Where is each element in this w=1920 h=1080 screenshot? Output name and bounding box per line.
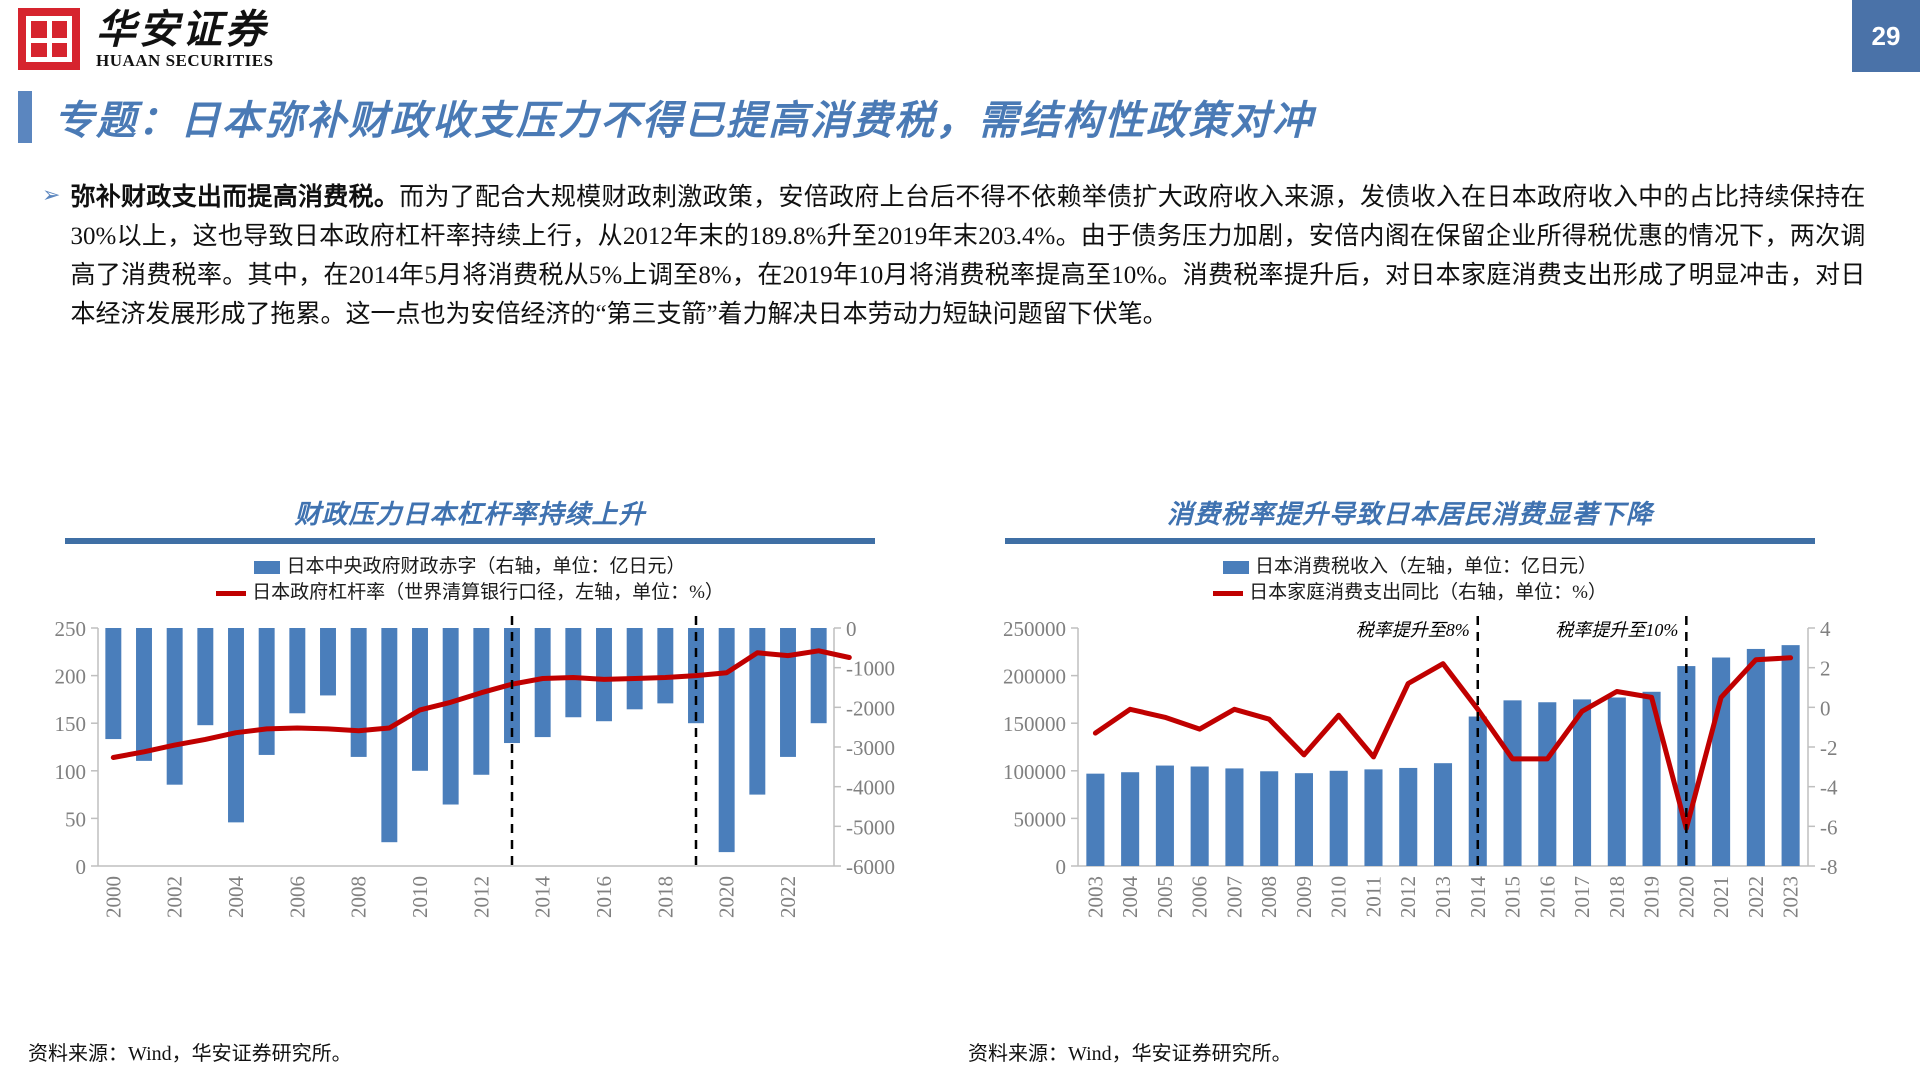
svg-text:2018: 2018: [653, 876, 677, 918]
svg-text:50000: 50000: [1014, 807, 1067, 831]
svg-text:2017: 2017: [1570, 876, 1594, 918]
svg-text:2010: 2010: [408, 876, 432, 918]
svg-text:2000: 2000: [101, 876, 125, 918]
brand-name-en: HUAAN SECURITIES: [96, 52, 274, 69]
svg-text:100000: 100000: [1003, 760, 1066, 784]
body-paragraph: 弥补财政支出而提高消费税。而为了配合大规模财政刺激政策，安倍政府上台后不得不依赖…: [70, 178, 1865, 334]
legend-item-line: 日本政府杠杆率（世界清算银行口径，左轴，单位：%）: [20, 580, 920, 606]
svg-text:2016: 2016: [1535, 876, 1559, 918]
source-note-right: 资料来源：Wind，华安证券研究所。: [968, 1037, 1292, 1066]
svg-text:2014: 2014: [531, 876, 555, 919]
svg-text:2008: 2008: [1257, 876, 1281, 918]
svg-text:250: 250: [55, 617, 87, 641]
svg-text:200: 200: [55, 665, 87, 689]
svg-text:2016: 2016: [592, 876, 616, 918]
svg-text:2022: 2022: [776, 876, 800, 918]
svg-text:2010: 2010: [1327, 876, 1351, 918]
svg-text:2003: 2003: [1083, 876, 1107, 918]
legend-line-swatch-icon: [216, 591, 246, 596]
legend-bar-label: 日本中央政府财政赤字（右轴，单位：亿日元）: [286, 554, 685, 580]
svg-text:200000: 200000: [1003, 665, 1066, 689]
chart-right-plot: 050000100000150000200000250000-8-6-4-202…: [960, 614, 1860, 944]
chart-right-title: 消费税率提升导致日本居民消费显著下降: [960, 500, 1860, 534]
brand-logo: 华安证券 HUAAN SECURITIES: [18, 8, 274, 70]
legend-line-label: 日本家庭消费支出同比（右轴，单位：%）: [1249, 580, 1607, 606]
legend-item-bar: 日本消费税收入（左轴，单位：亿日元）: [960, 554, 1860, 580]
svg-text:2008: 2008: [347, 876, 371, 918]
legend-bar-swatch-icon: [1223, 561, 1249, 574]
source-note-left: 资料来源：Wind，华安证券研究所。: [28, 1037, 352, 1066]
svg-text:-6000: -6000: [846, 855, 895, 879]
legend-bar-label: 日本消费税收入（左轴，单位：亿日元）: [1255, 554, 1597, 580]
svg-text:2020: 2020: [715, 876, 739, 918]
huaan-logo-icon: [18, 8, 80, 70]
brand-name-cn: 华安证券: [96, 10, 274, 50]
chart-panel-left: 财政压力日本杠杆率持续上升 日本中央政府财政赤字（右轴，单位：亿日元） 日本政府…: [20, 500, 920, 1030]
svg-text:-5000: -5000: [846, 815, 895, 839]
svg-text:2011: 2011: [1362, 876, 1386, 917]
svg-text:税率提升至10%: 税率提升至10%: [1555, 620, 1678, 640]
svg-text:2019: 2019: [1640, 876, 1664, 918]
svg-text:0: 0: [846, 617, 857, 641]
chart-left-rule: [65, 538, 875, 544]
svg-text:100: 100: [55, 760, 87, 784]
chart-left-plot: 0501001502002500-1000-2000-3000-4000-500…: [20, 614, 920, 944]
svg-text:-8: -8: [1820, 855, 1838, 879]
svg-text:2013: 2013: [1431, 876, 1455, 918]
svg-text:0: 0: [76, 855, 87, 879]
svg-text:2006: 2006: [285, 876, 309, 918]
svg-text:-6: -6: [1820, 815, 1838, 839]
chart-right-rule: [1005, 538, 1815, 544]
svg-text:2009: 2009: [1292, 876, 1316, 918]
legend-line-swatch-icon: [1213, 591, 1243, 596]
svg-text:2002: 2002: [163, 876, 187, 918]
chart-panel-right: 消费税率提升导致日本居民消费显著下降 日本消费税收入（左轴，单位：亿日元） 日本…: [960, 500, 1860, 1030]
chart-right-svg: 050000100000150000200000250000-8-6-4-202…: [960, 614, 1860, 944]
legend-item-bar: 日本中央政府财政赤字（右轴，单位：亿日元）: [20, 554, 920, 580]
legend-item-line: 日本家庭消费支出同比（右轴，单位：%）: [960, 580, 1860, 606]
svg-text:税率提升至8%: 税率提升至8%: [1356, 620, 1470, 640]
title-accent-bar: [18, 91, 32, 143]
svg-text:-2000: -2000: [846, 696, 895, 720]
svg-text:-3000: -3000: [846, 736, 895, 760]
svg-text:2015: 2015: [1501, 876, 1525, 918]
svg-text:2018: 2018: [1605, 876, 1629, 918]
chart-left-legend: 日本中央政府财政赤字（右轴，单位：亿日元） 日本政府杠杆率（世界清算银行口径，左…: [20, 554, 920, 606]
svg-text:2021: 2021: [1709, 876, 1733, 918]
svg-text:2014: 2014: [1466, 876, 1490, 919]
svg-text:2004: 2004: [224, 876, 248, 919]
legend-bar-swatch-icon: [254, 561, 280, 574]
chart-left-svg: 0501001502002500-1000-2000-3000-4000-500…: [20, 614, 920, 944]
svg-text:250000: 250000: [1003, 617, 1066, 641]
svg-text:-4: -4: [1820, 776, 1838, 800]
body-paragraph-block: ➢ 弥补财政支出而提高消费税。而为了配合大规模财政刺激政策，安倍政府上台后不得不…: [42, 178, 1882, 334]
chart-left-title: 财政压力日本杠杆率持续上升: [20, 500, 920, 534]
svg-text:-2: -2: [1820, 736, 1838, 760]
page-title: 专题：日本弥补财政收支压力不得已提高消费税，需结构性政策对冲: [54, 88, 1314, 146]
svg-text:150: 150: [55, 712, 87, 736]
page-number-badge: 29: [1852, 0, 1920, 72]
svg-text:2007: 2007: [1222, 876, 1246, 918]
svg-text:2012: 2012: [1396, 876, 1420, 918]
svg-text:2020: 2020: [1674, 876, 1698, 918]
svg-text:-1000: -1000: [846, 657, 895, 681]
svg-text:50: 50: [65, 807, 86, 831]
svg-text:2: 2: [1820, 657, 1831, 681]
svg-text:2004: 2004: [1118, 876, 1142, 919]
svg-text:2006: 2006: [1188, 876, 1212, 918]
svg-text:2012: 2012: [469, 876, 493, 918]
slide-title-row: 专题：日本弥补财政收支压力不得已提高消费税，需结构性政策对冲: [18, 88, 1314, 146]
svg-text:0: 0: [1056, 855, 1067, 879]
svg-text:0: 0: [1820, 696, 1831, 720]
svg-text:150000: 150000: [1003, 712, 1066, 736]
body-lead-sentence: 弥补财政支出而提高消费税。: [70, 184, 399, 211]
svg-text:2022: 2022: [1744, 876, 1768, 918]
svg-text:4: 4: [1820, 617, 1831, 641]
chart-right-legend: 日本消费税收入（左轴，单位：亿日元） 日本家庭消费支出同比（右轴，单位：%）: [960, 554, 1860, 606]
svg-text:-4000: -4000: [846, 776, 895, 800]
bullet-arrow-icon: ➢: [42, 178, 60, 334]
svg-text:2005: 2005: [1153, 876, 1177, 918]
svg-text:2023: 2023: [1779, 876, 1803, 918]
legend-line-label: 日本政府杠杆率（世界清算银行口径，左轴，单位：%）: [252, 580, 724, 606]
page-number: 29: [1872, 21, 1901, 52]
